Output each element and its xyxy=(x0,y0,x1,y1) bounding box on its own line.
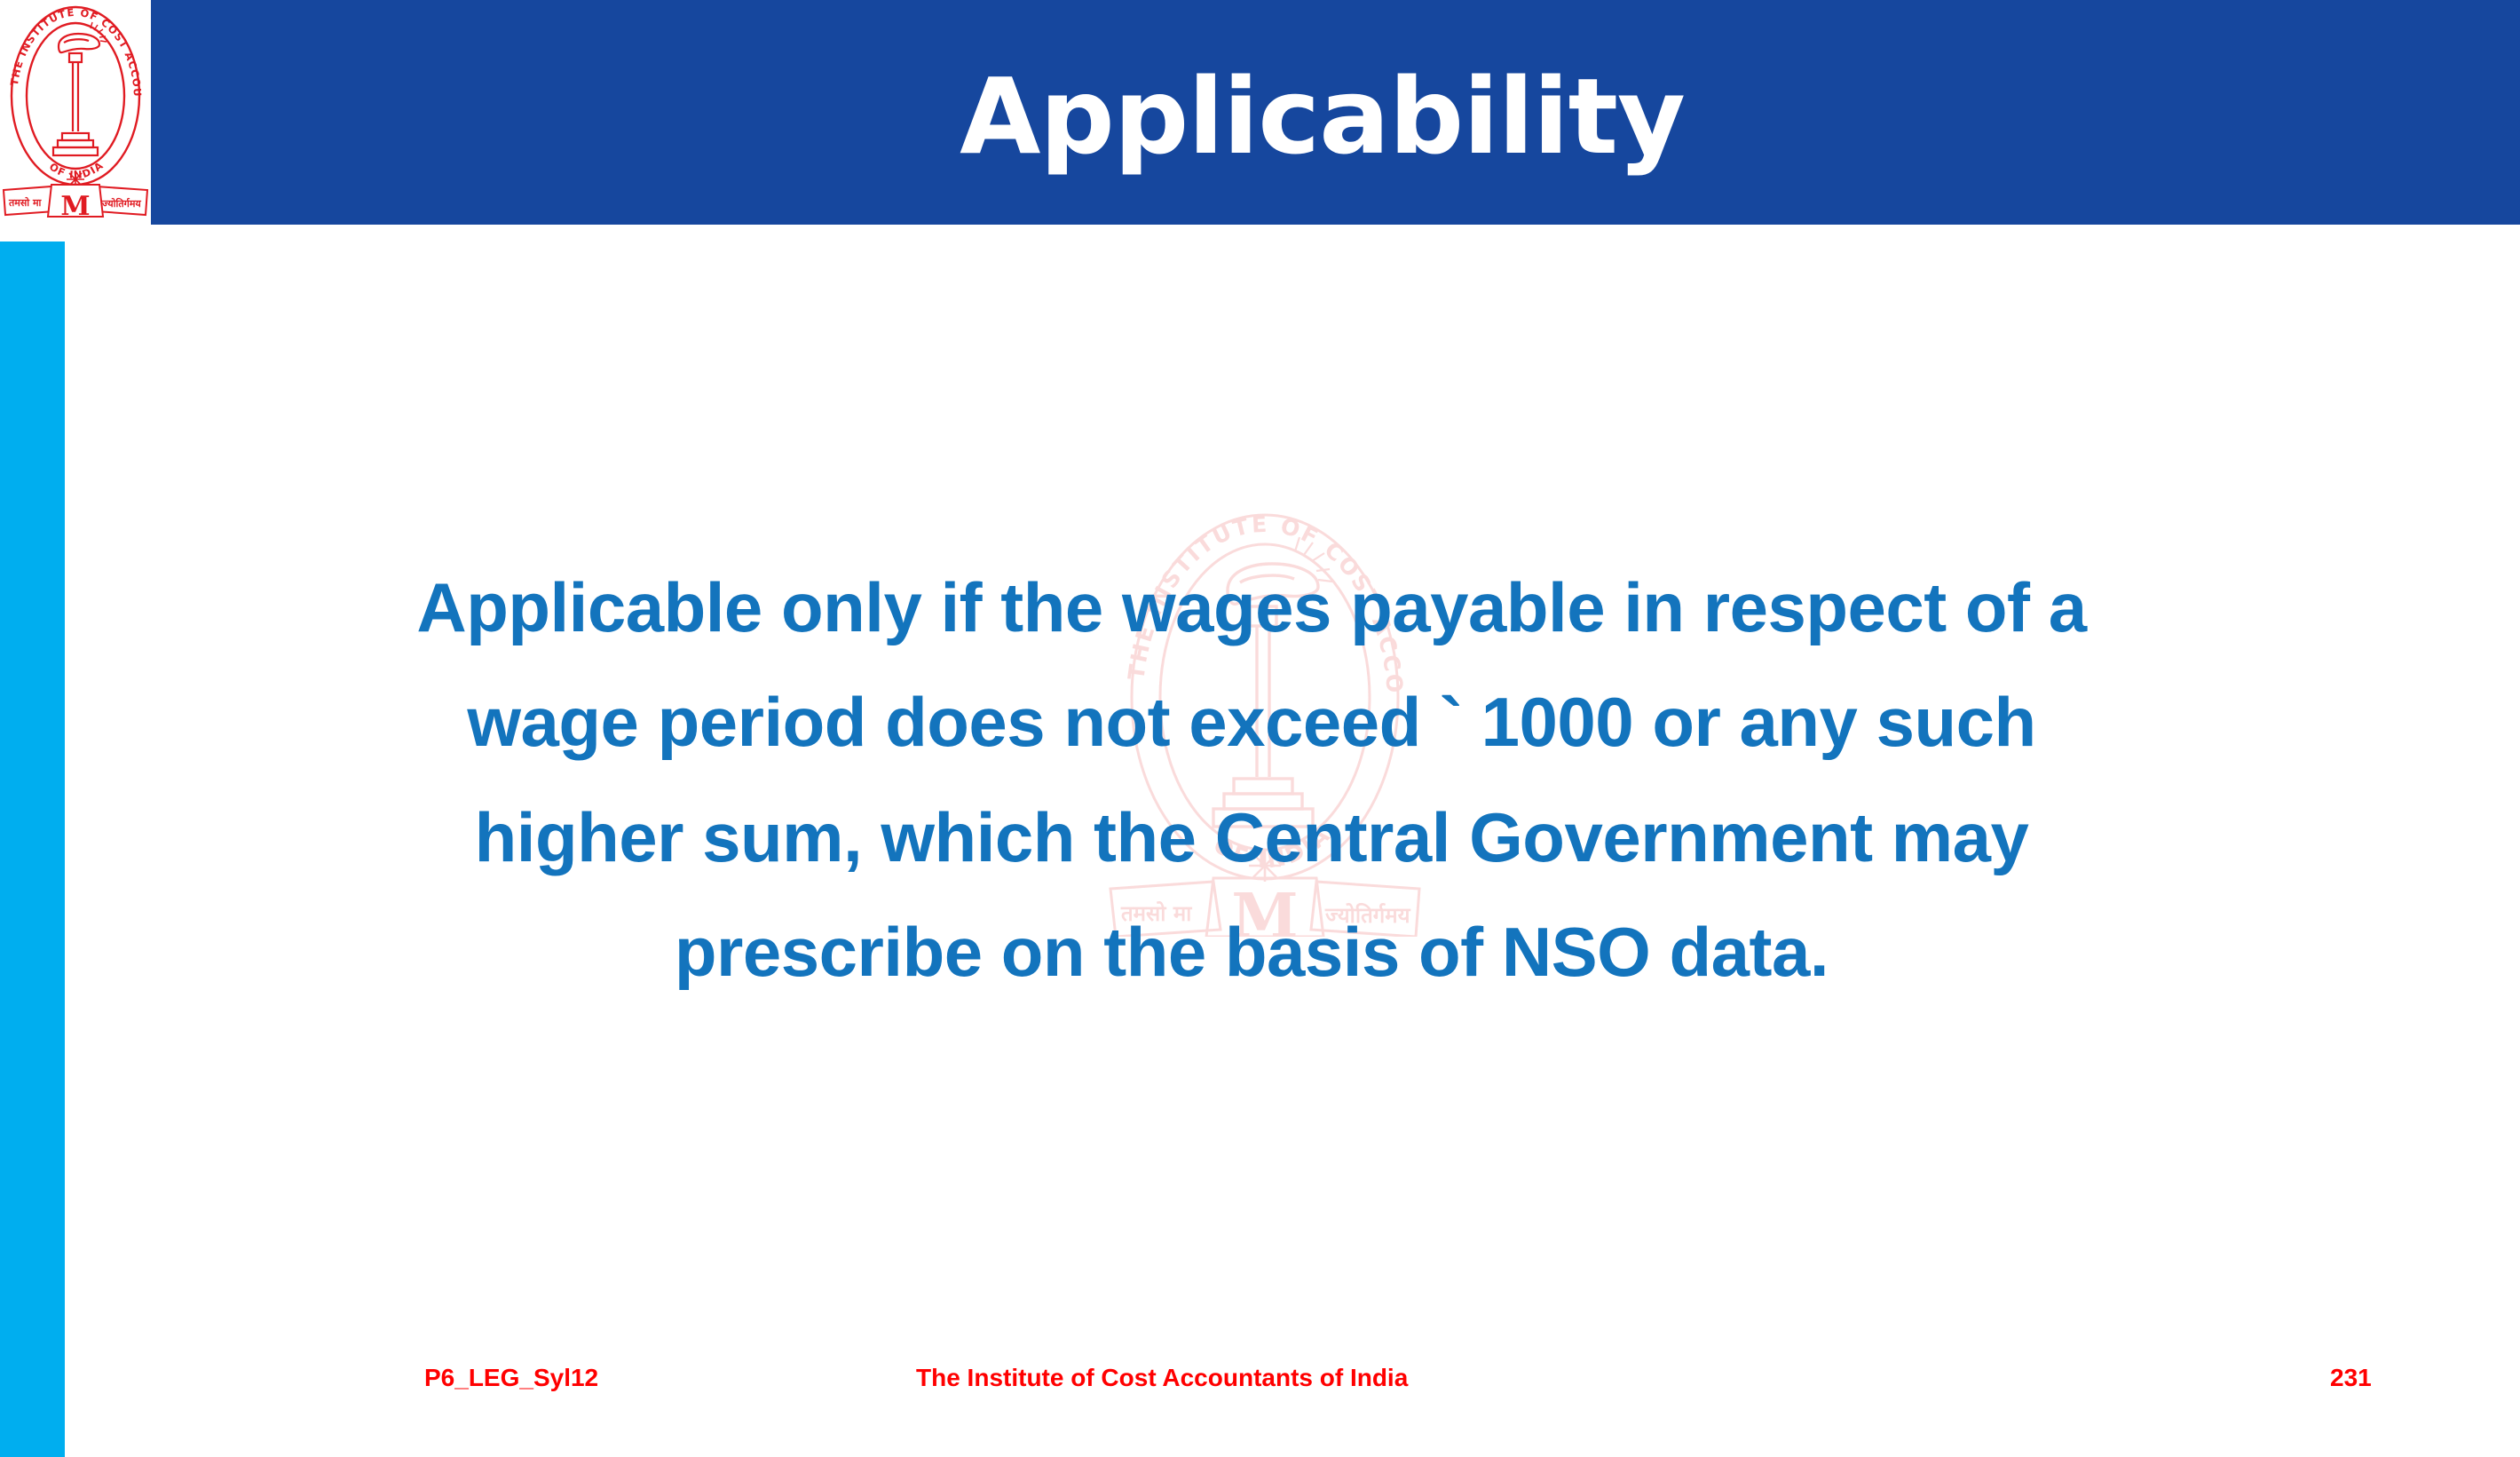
footer-subject-code: P6_LEG_Syl12 xyxy=(424,1364,598,1392)
svg-text:ज्योतिर्गमय: ज्योतिर्गमय xyxy=(101,197,141,210)
presentation-slide: THE INSTITUTE OF COST ACCOUNTANTS OF IND… xyxy=(0,0,2520,1457)
body-line-2: wage period does not exceed ` 1000 or an… xyxy=(133,665,2370,780)
slide-body-text: Applicable only if the wages payable in … xyxy=(133,550,2370,1010)
body-line-3: higher sum, which the Central Government… xyxy=(133,780,2370,895)
left-accent-bar xyxy=(0,242,65,1457)
footer-page-number: 231 xyxy=(2330,1364,2372,1392)
slide-footer: P6_LEG_Syl12 The Institute of Cost Accou… xyxy=(0,1357,2520,1410)
svg-text:M: M xyxy=(60,191,90,222)
body-line-4: prescribe on the basis of NSO data. xyxy=(133,895,2370,1010)
icai-logo: THE INSTITUTE OF COST ACCOUNTANTS OF IND… xyxy=(0,0,151,225)
footer-institute-name: The Institute of Cost Accountants of Ind… xyxy=(916,1364,1408,1392)
body-line-1: Applicable only if the wages payable in … xyxy=(133,550,2370,665)
svg-text:तमसो मा: तमसो मा xyxy=(8,196,43,209)
page-title: Applicability xyxy=(151,7,2520,225)
